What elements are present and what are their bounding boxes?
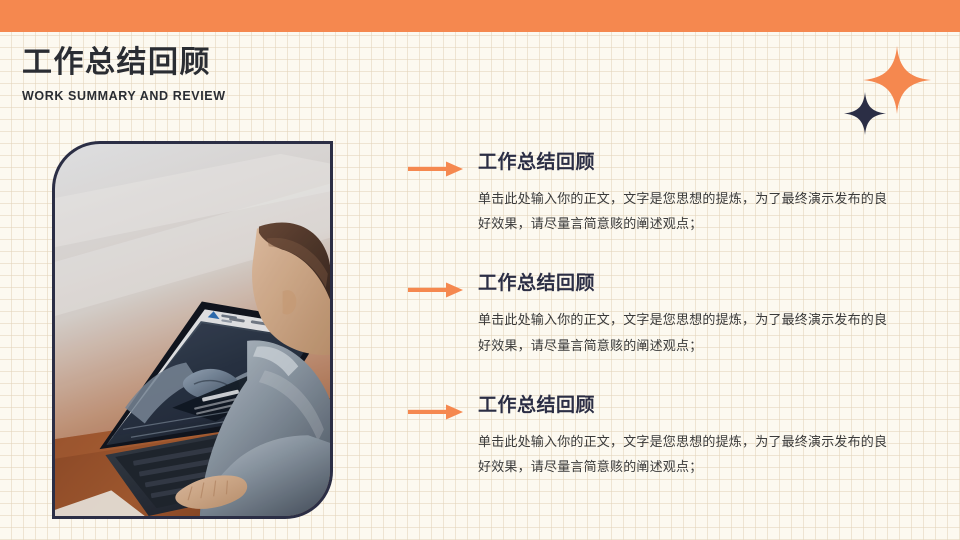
photo-illustration — [55, 144, 330, 516]
slide-canvas: 工作总结回顾 WORK SUMMARY AND REVIEW — [0, 0, 960, 540]
list-item: 工作总结回顾 单击此处输入你的正文，文字是您思想的提炼，为了最终演示发布的良好效… — [408, 273, 908, 357]
arrow-right-icon — [408, 161, 463, 177]
list-item-heading: 工作总结回顾 — [478, 395, 908, 418]
content-list: 工作总结回顾 单击此处输入你的正文，文字是您思想的提炼，为了最终演示发布的良好效… — [408, 152, 908, 479]
list-item: 工作总结回顾 单击此处输入你的正文，文字是您思想的提炼，为了最终演示发布的良好效… — [408, 395, 908, 479]
photo-inner — [55, 144, 330, 516]
list-item-text: 单击此处输入你的正文，文字是您思想的提炼，为了最终演示发布的良好效果，请尽量言简… — [478, 307, 900, 358]
list-item-text: 单击此处输入你的正文，文字是您思想的提炼，为了最终演示发布的良好效果，请尽量言简… — [478, 186, 900, 237]
sparkle-icon-large — [863, 46, 931, 114]
list-item-heading: 工作总结回顾 — [478, 273, 908, 296]
title-block: 工作总结回顾 WORK SUMMARY AND REVIEW — [22, 46, 442, 103]
list-item-body: 工作总结回顾 单击此处输入你的正文，文字是您思想的提炼，为了最终演示发布的良好效… — [478, 152, 908, 236]
sparkle-decoration-group — [835, 42, 955, 142]
list-item-body: 工作总结回顾 单击此处输入你的正文，文字是您思想的提炼，为了最终演示发布的良好效… — [478, 273, 908, 357]
top-accent-bar — [0, 0, 960, 32]
arrow-right-icon — [408, 282, 463, 298]
page-title: 工作总结回顾 — [22, 46, 442, 81]
sparkle-svg — [835, 42, 955, 142]
list-item: 工作总结回顾 单击此处输入你的正文，文字是您思想的提炼，为了最终演示发布的良好效… — [408, 152, 908, 236]
arrow-right-icon — [408, 404, 463, 420]
list-item-body: 工作总结回顾 单击此处输入你的正文，文字是您思想的提炼，为了最终演示发布的良好效… — [478, 395, 908, 479]
page-subtitle: WORK SUMMARY AND REVIEW — [22, 89, 442, 103]
list-item-heading: 工作总结回顾 — [478, 152, 908, 175]
sparkle-icon-small — [844, 92, 886, 135]
list-item-text: 单击此处输入你的正文，文字是您思想的提炼，为了最终演示发布的良好效果，请尽量言简… — [478, 429, 900, 480]
person-working-on-laptop-photo — [52, 141, 333, 519]
